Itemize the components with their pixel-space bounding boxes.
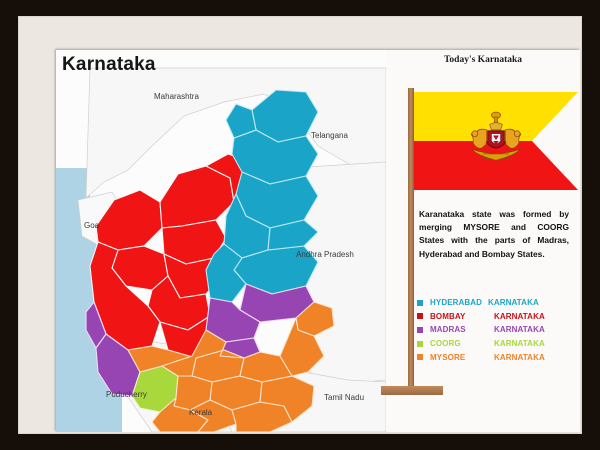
karnataka-flag bbox=[414, 92, 578, 190]
geo-label-goa: Goa bbox=[84, 221, 99, 230]
legend-region-name: BOMBAY bbox=[430, 312, 494, 321]
legend-swatch-hyderabad-icon bbox=[417, 300, 423, 306]
geo-label-telangana: Telangana bbox=[311, 131, 348, 140]
legend-region-suffix: KARNATAKA bbox=[494, 312, 545, 321]
picture-frame-mat: Karnataka MaharashtraTelanganaGoaAndhra … bbox=[18, 16, 582, 434]
legend-row-coorg: COORGKARNATAKA bbox=[417, 337, 580, 351]
geo-label-kerala: Kerala bbox=[189, 408, 212, 417]
legend-swatch-madras-icon bbox=[417, 327, 423, 333]
karnataka-district-map bbox=[56, 50, 386, 432]
legend-swatch-coorg-icon bbox=[417, 341, 423, 347]
legend-region-suffix: KARNATAKA bbox=[494, 339, 545, 348]
legend-region-suffix: KARNATAKA bbox=[488, 298, 539, 307]
legend-region-suffix: KARNATAKA bbox=[494, 325, 545, 334]
geo-label-tamil-nadu: Tamil Nadu bbox=[324, 393, 364, 402]
district-bijapur bbox=[160, 166, 234, 228]
map-legend: HYDERABADKARNATAKABOMBAYKARNATAKAMADRASK… bbox=[417, 296, 580, 364]
legend-region-suffix: KARNATAKA bbox=[494, 353, 545, 362]
map-panel: Karnataka MaharashtraTelanganaGoaAndhra … bbox=[56, 50, 386, 432]
flag-pole-base bbox=[381, 386, 443, 395]
legend-region-name: MYSORE bbox=[430, 353, 494, 362]
legend-swatch-bombay-icon bbox=[417, 313, 423, 319]
geo-label-andhra-pradesh: Andhra Pradesh bbox=[296, 250, 354, 259]
description-text: Karanataka state was formed by merging M… bbox=[419, 208, 569, 261]
geo-label-puducherry: Puducherry bbox=[106, 390, 147, 399]
slide-canvas: Karnataka MaharashtraTelanganaGoaAndhra … bbox=[56, 50, 580, 432]
picture-frame-outer: Karnataka MaharashtraTelanganaGoaAndhra … bbox=[0, 0, 600, 450]
legend-row-madras: MADRASKARNATAKA bbox=[417, 323, 580, 337]
legend-row-mysore: MYSOREKARNATAKA bbox=[417, 350, 580, 364]
legend-row-hyderabad: HYDERABADKARNATAKA bbox=[417, 296, 580, 310]
legend-row-bombay: BOMBAYKARNATAKA bbox=[417, 310, 580, 324]
info-panel-heading: Today's Karnataka bbox=[386, 55, 580, 65]
geo-label-maharashtra: Maharashtra bbox=[154, 92, 199, 101]
legend-region-name: HYDERABAD bbox=[430, 298, 488, 307]
legend-region-name: MADRAS bbox=[430, 325, 494, 334]
legend-swatch-mysore-icon bbox=[417, 354, 423, 360]
legend-region-name: COORG bbox=[430, 339, 494, 348]
page-title: Karnataka bbox=[62, 54, 156, 76]
